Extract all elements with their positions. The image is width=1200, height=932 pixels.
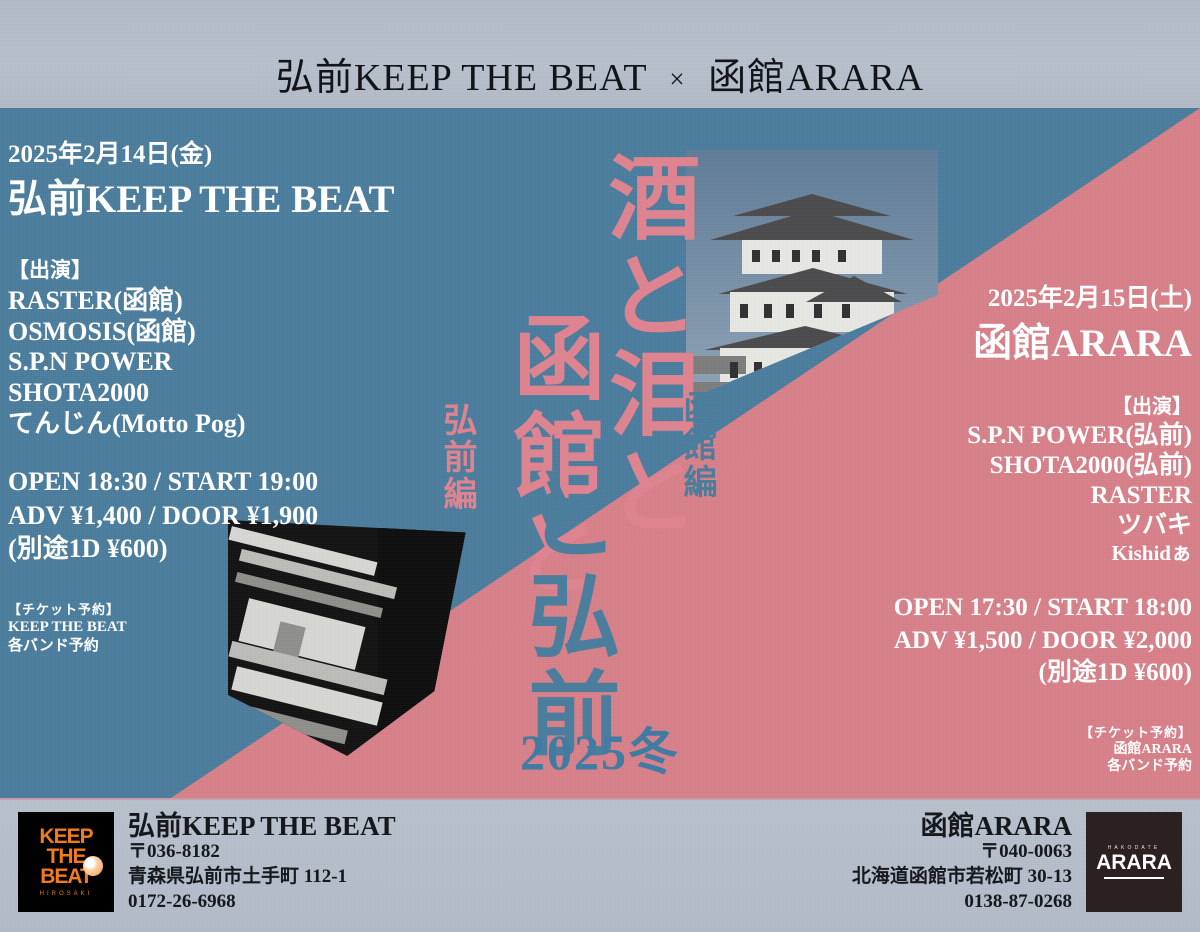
header-right-venue: 函館ARARA [708,57,924,99]
edition-label-hakodate: 函館編 [672,390,721,501]
footer-right-address: 北海道函館市若松町 30-13 [852,865,1072,890]
footer-venue-keep-the-beat: KEEP THE BEAT HIROSAKI 弘前KEEP THE BEAT 〒… [18,812,396,914]
list-item: OSMOSIS(函館) [8,317,478,348]
day-two-ticket-block: 【チケット予約】 函館ARARA 各バンド予約 [752,722,1192,776]
season-year-label: 2025冬 [520,712,680,784]
day-one-cast-list: RASTER(函館) OSMOSIS(函館) S.P.N POWER SHOTA… [8,286,478,439]
list-item: SHOTA2000(弘前) [752,451,1192,481]
logo-name: ARARA [1096,851,1172,875]
disco-ball-icon [83,856,103,876]
list-item: SHOTA2000 [8,378,478,409]
day-one-date: 2025年2月14日(金) [8,134,478,170]
day-two-drink: (別途1D ¥600) [752,657,1192,690]
day-one-ticket-heading: 【チケット予約】 [8,599,478,618]
day-one-venue: 弘前KEEP THE BEAT [8,168,478,224]
day-two-venue: 函館ARARA [752,312,1192,368]
header-separator-icon: × [657,64,697,94]
day-one-ticket-line-1: KEEP THE BEAT [8,618,478,637]
day-one-ticket-line-2: 各バンド予約 [8,637,478,656]
keep-the-beat-logo: KEEP THE BEAT HIROSAKI [18,812,114,912]
list-item: ツバキ [752,511,1192,541]
header-left-venue: 弘前KEEP THE BEAT [276,57,647,99]
day-one-details: 2025年2月14日(金) 弘前KEEP THE BEAT 【出演】 RASTE… [8,134,478,656]
list-item: Kishidぁ [752,541,1192,566]
day-one-schedule: OPEN 18:30 / START 19:00 [8,465,478,498]
day-two-details: 2025年2月15日(土) 函館ARARA 【出演】 S.P.N POWER(弘… [752,278,1192,776]
day-one-cast-heading: 【出演】 [8,254,478,284]
arara-logo: HAKODATE ARARA [1086,812,1182,912]
list-item: てんじん(Motto Pog) [8,409,478,440]
flyer-header-title: 弘前KEEP THE BEAT × 函館ARARA [0,46,1200,101]
day-two-ticket-line-1: 函館ARARA [752,741,1192,759]
footer-right-postal: 〒040-0063 [852,840,1072,865]
day-one-schedule-block: OPEN 18:30 / START 19:00 ADV ¥1,400 / DO… [8,465,478,565]
logo-line-2: THE [47,847,86,867]
logo-underline [1104,877,1164,879]
event-flyer: 弘前KEEP THE BEAT × 函館ARARA 酒と泪と 函館と と弘前 弘… [0,0,1200,932]
day-two-schedule-block: OPEN 17:30 / START 18:00 ADV ¥1,500 / DO… [752,592,1192,690]
footer-left-postal: 〒036-8182 [128,840,396,865]
day-one-ticket-block: 【チケット予約】 KEEP THE BEAT 各バンド予約 [8,599,478,656]
footer-left-name: 弘前KEEP THE BEAT [128,812,396,840]
day-one-price: ADV ¥1,400 / DOOR ¥1,900 [8,499,478,532]
logo-subtitle: HIROSAKI [40,891,93,897]
list-item: RASTER(函館) [8,286,478,317]
footer-right-text: 函館ARARA 〒040-0063 北海道函館市若松町 30-13 0138-8… [852,812,1072,914]
footer-right-phone: 0138-87-0268 [852,890,1072,915]
footer-venue-arara: 函館ARARA 〒040-0063 北海道函館市若松町 30-13 0138-8… [852,812,1182,914]
footer-right-name: 函館ARARA [852,812,1072,840]
day-two-cast-heading: 【出演】 [752,390,1192,419]
day-two-cast-list: S.P.N POWER(弘前) SHOTA2000(弘前) RASTER ツバキ… [752,421,1192,566]
list-item: RASTER [752,481,1192,511]
footer-left-address: 青森県弘前市土手町 112-1 [128,865,396,890]
day-two-price: ADV ¥1,500 / DOOR ¥2,000 [752,625,1192,658]
day-two-schedule: OPEN 17:30 / START 18:00 [752,592,1192,625]
day-two-ticket-line-2: 各バンド予約 [752,758,1192,776]
footer-left-text: 弘前KEEP THE BEAT 〒036-8182 青森県弘前市土手町 112-… [128,812,396,914]
footer-left-phone: 0172-26-6968 [128,890,396,915]
logo-line-1: KEEP [39,827,92,847]
day-two-ticket-heading: 【チケット予約】 [752,722,1192,741]
day-two-date: 2025年2月15日(土) [752,278,1192,314]
list-item: S.P.N POWER(弘前) [752,421,1192,451]
list-item: S.P.N POWER [8,347,478,378]
day-one-drink: (別途1D ¥600) [8,532,478,565]
